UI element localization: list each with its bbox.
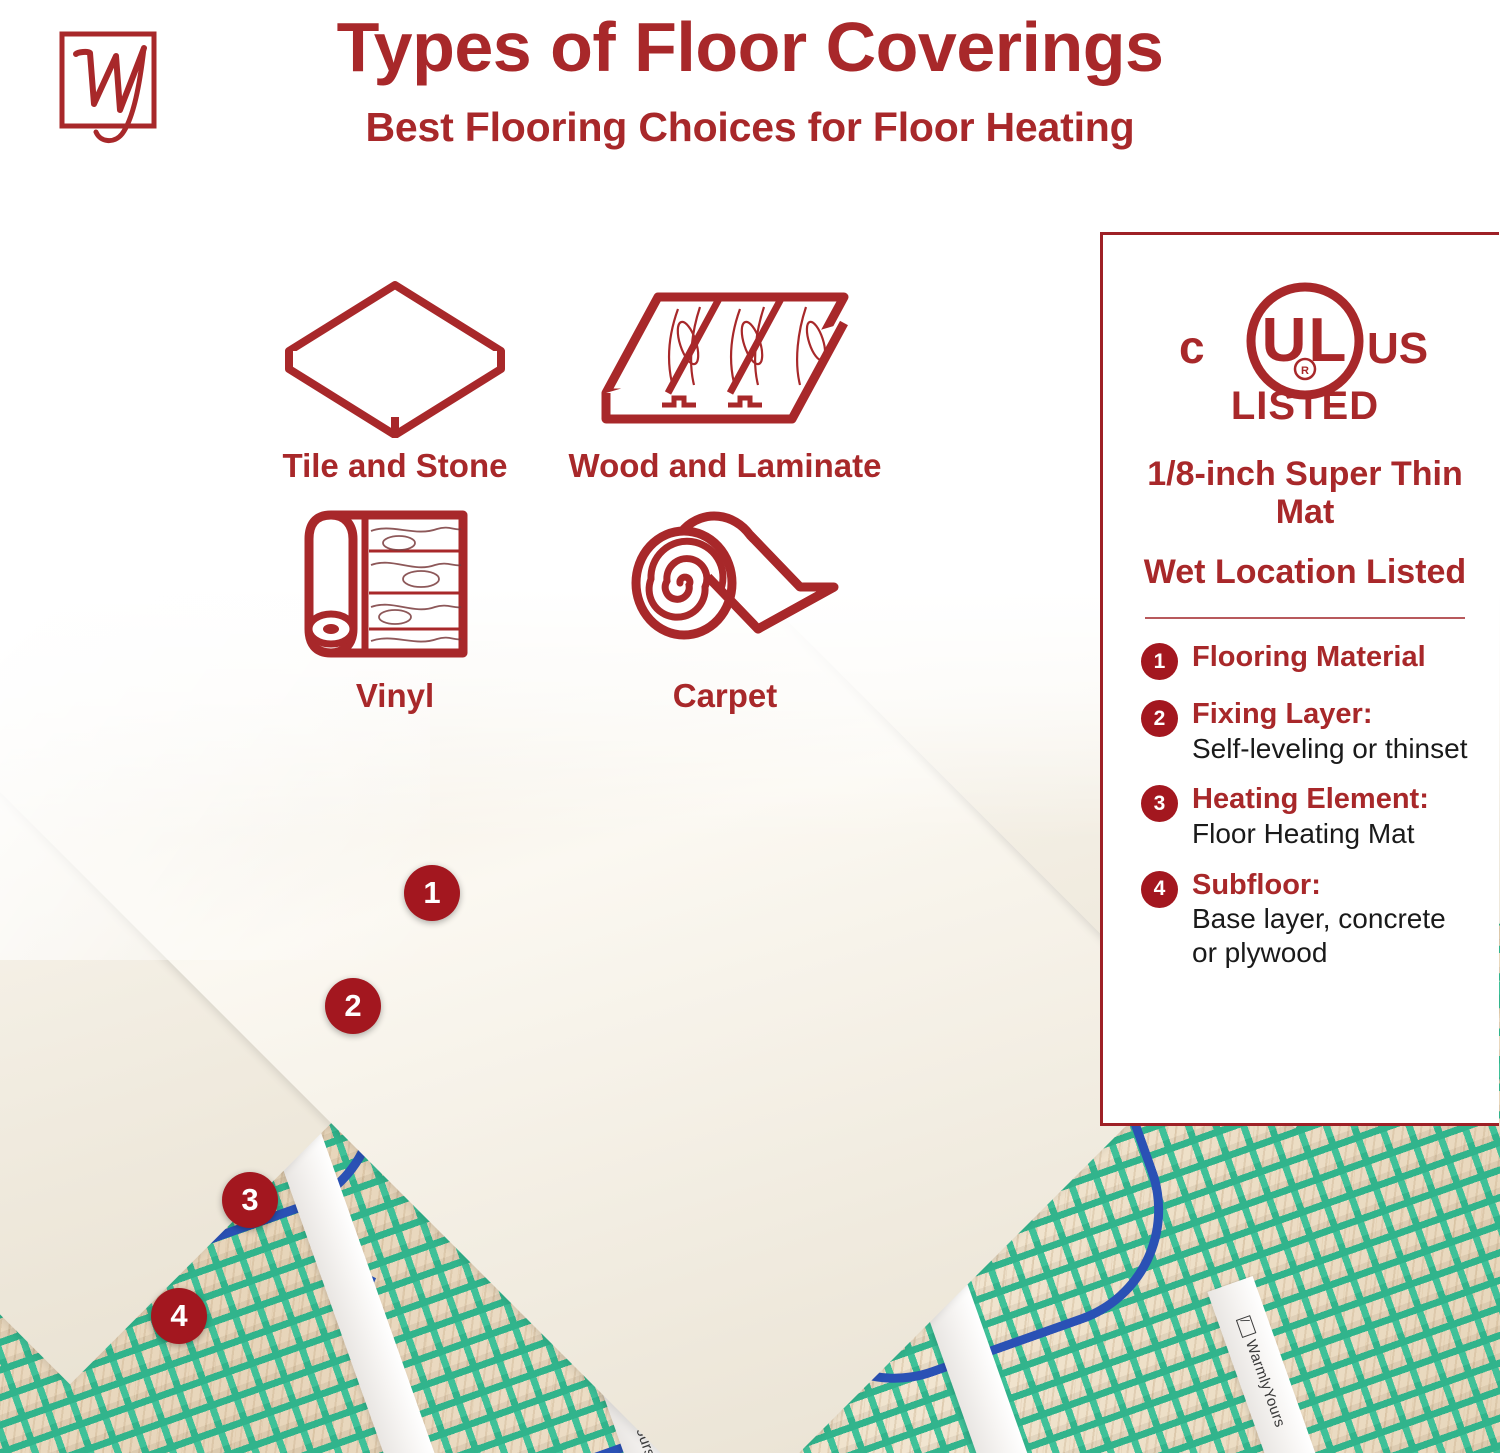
svg-text:R: R bbox=[1301, 365, 1309, 377]
wy-monogram-icon bbox=[48, 26, 168, 146]
cULus-listed-icon: c UL R US LISTED bbox=[1155, 277, 1455, 427]
flooring-type-wood-and-laminate: Wood and Laminate bbox=[560, 268, 890, 485]
svg-text:LISTED: LISTED bbox=[1231, 384, 1379, 427]
panel-headline-thin-mat: 1/8-inch Super Thin Mat bbox=[1141, 455, 1469, 531]
legend-badge-3: 3 bbox=[1141, 785, 1178, 822]
legend-badge-2: 2 bbox=[1141, 700, 1178, 737]
legend-title-4: Subfloor: bbox=[1192, 869, 1469, 903]
panel-headline-wet-location: Wet Location Listed bbox=[1141, 553, 1469, 591]
flooring-type-label: Vinyl bbox=[230, 677, 560, 715]
legend-desc-2: Self-leveling or thinset bbox=[1192, 732, 1469, 766]
legend-item-1: 1 Flooring Material bbox=[1141, 641, 1469, 680]
legend-title-1: Flooring Material bbox=[1192, 641, 1469, 675]
flooring-type-carpet: Carpet bbox=[560, 498, 890, 715]
legend-item-3: 3 Heating Element: Floor Heating Mat bbox=[1141, 783, 1469, 850]
wood-plank-icon bbox=[600, 273, 850, 438]
header: Types of Floor Coverings Best Flooring C… bbox=[0, 0, 1500, 200]
callout-badge-4: 4 bbox=[151, 1288, 207, 1344]
flooring-type-vinyl: Vinyl bbox=[230, 498, 560, 715]
legend-badge-4: 4 bbox=[1141, 871, 1178, 908]
certification-panel: c UL R US LISTED 1/8-inch Super Thin Mat… bbox=[1100, 232, 1499, 1126]
tile-stone-icon bbox=[275, 273, 515, 438]
callout-badge-1: 1 bbox=[404, 865, 460, 921]
flooring-type-label: Wood and Laminate bbox=[560, 447, 890, 485]
svg-text:c: c bbox=[1179, 321, 1205, 373]
wy-logo-icon bbox=[1236, 1315, 1256, 1338]
flooring-type-tile-and-stone: Tile and Stone bbox=[230, 268, 560, 485]
legend-desc-3: Floor Heating Mat bbox=[1192, 817, 1469, 851]
legend-title-3: Heating Element: bbox=[1192, 783, 1469, 817]
warmlyyours-logo bbox=[48, 26, 168, 146]
cULus-listed-mark: c UL R US LISTED bbox=[1141, 277, 1469, 427]
vinyl-roll-icon bbox=[295, 501, 495, 671]
legend-badge-1: 1 bbox=[1141, 643, 1178, 680]
legend-desc-4: Base layer, concrete or plywood bbox=[1192, 902, 1469, 969]
svg-text:US: US bbox=[1367, 324, 1428, 373]
legend-item-4: 4 Subfloor: Base layer, concrete or plyw… bbox=[1141, 869, 1469, 970]
callout-badge-2: 2 bbox=[325, 978, 381, 1034]
page-title: Types of Floor Coverings bbox=[180, 8, 1320, 86]
flooring-type-label: Tile and Stone bbox=[230, 447, 560, 485]
panel-divider bbox=[1145, 617, 1465, 619]
legend-title-2: Fixing Layer: bbox=[1192, 698, 1469, 732]
infographic-canvas: WarmlyYours WarmlyYours WarmlyYours Warm… bbox=[0, 0, 1500, 1453]
callout-badge-3: 3 bbox=[222, 1172, 278, 1228]
flooring-type-label: Carpet bbox=[560, 677, 890, 715]
carpet-roll-icon bbox=[608, 501, 843, 671]
flooring-types-grid: Tile and Stone bbox=[230, 268, 930, 768]
legend-item-2: 2 Fixing Layer: Self-leveling or thinset bbox=[1141, 698, 1469, 765]
page-subtitle: Best Flooring Choices for Floor Heating bbox=[180, 104, 1320, 151]
